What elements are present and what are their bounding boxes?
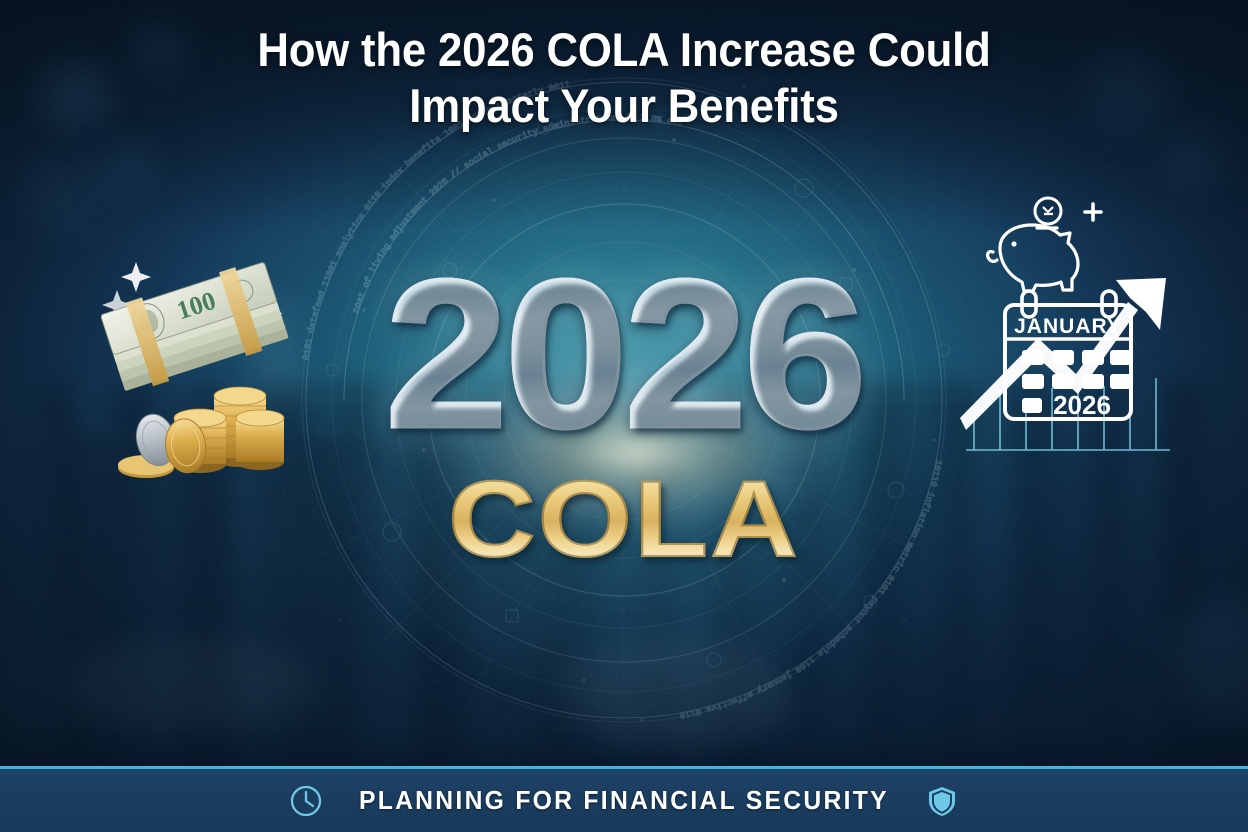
clock-icon [289,784,323,818]
headline-line-2: Impact Your Benefits [44,78,1205,134]
bottom-banner: PLANNING FOR FINANCIAL SECURITY [0,766,1248,832]
hero-year-block: 2026 2026 [0,248,1248,460]
hero-acronym-block: COLA [0,463,1248,575]
page-title: How the 2026 COLA Increase Could Impact … [44,22,1205,134]
banner-label: PLANNING FOR FINANCIAL SECURITY [359,785,889,816]
shield-icon [925,784,959,818]
headline-line-1: How the 2026 COLA Increase Could [257,23,990,76]
hero-acronym-text: COLA [448,463,800,575]
coin-icon [1035,198,1061,224]
plus-icon [1085,204,1101,220]
hero-year-text: 2026 [385,248,863,460]
promo-graphic-canvas: 0101 datafeed 11001 analytics 0110 index… [0,0,1248,832]
